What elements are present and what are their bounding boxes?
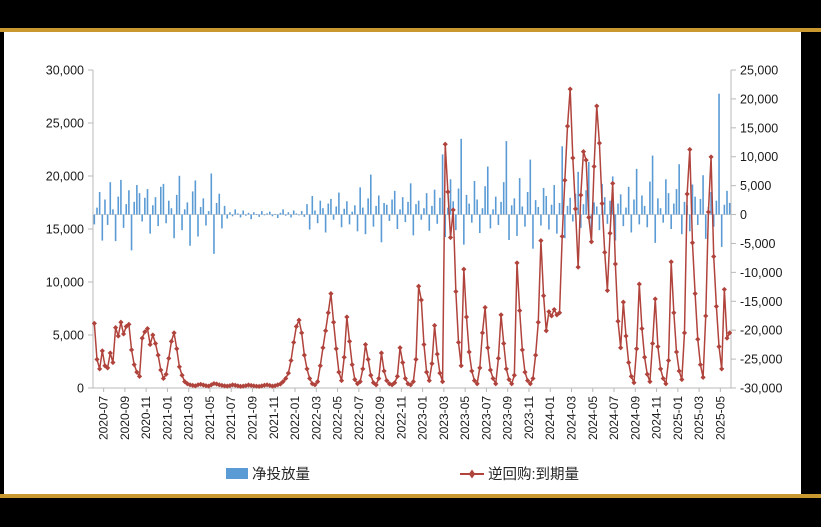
- line-marker: [360, 366, 365, 371]
- bar: [187, 202, 189, 214]
- line-marker: [708, 154, 713, 159]
- bar: [402, 197, 404, 214]
- line-marker: [629, 374, 634, 379]
- bar: [567, 206, 569, 215]
- line-marker: [645, 372, 650, 377]
- line-marker: [421, 342, 426, 347]
- legend-label-net-injection: 净投放量: [252, 463, 310, 484]
- bar: [346, 201, 348, 214]
- svg-text:5,000: 5,000: [53, 329, 84, 343]
- line-marker: [100, 348, 105, 353]
- bar: [498, 215, 500, 225]
- bar: [662, 215, 664, 223]
- line-marker: [323, 328, 328, 333]
- svg-text:2020-07: 2020-07: [97, 396, 111, 440]
- bar: [203, 198, 205, 214]
- bar: [343, 209, 345, 215]
- bar: [216, 203, 218, 215]
- bar: [585, 190, 587, 214]
- line-marker: [363, 342, 368, 347]
- bar: [431, 206, 433, 215]
- bar: [117, 197, 119, 215]
- line-marker: [650, 341, 655, 346]
- bar: [370, 175, 372, 215]
- bar: [577, 172, 579, 215]
- line-marker: [677, 368, 682, 373]
- bar: [428, 215, 430, 231]
- bar: [365, 215, 367, 235]
- chart-canvas: 05,00010,00015,00020,00025,00030,000-30,…: [4, 32, 801, 494]
- svg-text:10,000: 10,000: [740, 150, 778, 164]
- line-marker: [169, 339, 174, 344]
- bar: [181, 215, 183, 231]
- line-marker: [602, 250, 607, 255]
- line-marker: [485, 345, 490, 350]
- svg-text:-5,000: -5,000: [740, 237, 775, 251]
- bar: [168, 201, 170, 215]
- bar: [413, 215, 415, 236]
- line-marker: [432, 323, 437, 328]
- line-marker: [647, 379, 652, 384]
- svg-text:2023-07: 2023-07: [479, 396, 493, 440]
- svg-text:25,000: 25,000: [740, 64, 778, 78]
- line-marker: [97, 366, 102, 371]
- bar: [410, 183, 412, 214]
- bar: [399, 209, 401, 214]
- bar: [551, 205, 553, 215]
- bar: [391, 200, 393, 215]
- svg-text:2022-07: 2022-07: [352, 396, 366, 440]
- line-marker: [174, 346, 179, 351]
- line-marker: [336, 370, 341, 375]
- bar: [519, 178, 521, 214]
- line-marker: [685, 191, 690, 196]
- line-marker: [599, 201, 604, 206]
- bar: [120, 180, 122, 215]
- bar: [272, 215, 274, 217]
- line-marker: [661, 376, 666, 381]
- svg-text:2024-07: 2024-07: [607, 396, 621, 440]
- line-marker: [637, 282, 642, 287]
- bar: [436, 215, 438, 224]
- bar: [434, 190, 436, 215]
- bar: [293, 210, 295, 214]
- bar: [716, 201, 718, 215]
- bar: [476, 200, 478, 215]
- bar: [726, 191, 728, 215]
- bar: [176, 195, 178, 215]
- bar: [248, 213, 250, 215]
- bar: [463, 215, 465, 245]
- bar: [423, 208, 425, 214]
- bar: [702, 175, 704, 214]
- bar: [99, 192, 101, 215]
- bar: [107, 215, 109, 225]
- bar: [330, 199, 332, 215]
- svg-text:2021-05: 2021-05: [203, 396, 217, 440]
- line-marker: [565, 124, 570, 129]
- svg-text:2023-11: 2023-11: [522, 396, 536, 439]
- bar: [359, 187, 361, 214]
- bar: [362, 208, 364, 215]
- bar: [471, 215, 473, 223]
- svg-text:2023-03: 2023-03: [437, 396, 451, 440]
- line-marker: [581, 149, 586, 154]
- bar: [245, 215, 247, 216]
- legend-item-net-injection[interactable]: 净投放量: [226, 463, 310, 484]
- legend-bar-icon: [226, 468, 248, 479]
- bar: [250, 215, 252, 220]
- svg-text:2021-01: 2021-01: [160, 396, 174, 440]
- bar: [325, 215, 327, 233]
- line-marker: [623, 333, 628, 338]
- bar: [426, 193, 428, 214]
- line-marker: [368, 373, 373, 378]
- line-marker: [488, 367, 493, 372]
- bar: [218, 194, 220, 215]
- bar: [572, 215, 574, 222]
- bar: [527, 192, 529, 215]
- line-marker: [618, 345, 623, 350]
- line-marker: [538, 238, 543, 243]
- bar: [405, 215, 407, 223]
- line-marker: [113, 325, 118, 330]
- bar: [641, 195, 643, 214]
- bar: [306, 204, 308, 214]
- bar: [296, 213, 298, 214]
- bar: [694, 197, 696, 215]
- line-marker: [669, 259, 674, 264]
- bar: [155, 197, 157, 214]
- line-marker: [381, 368, 386, 373]
- line-marker: [132, 362, 137, 367]
- line-marker: [179, 373, 184, 378]
- svg-text:15,000: 15,000: [46, 223, 84, 237]
- line-marker: [483, 305, 488, 310]
- line-marker: [480, 330, 485, 335]
- svg-text:-20,000: -20,000: [740, 324, 782, 338]
- bar: [386, 205, 388, 215]
- line-marker: [376, 376, 381, 381]
- line-marker: [615, 319, 620, 324]
- bar: [269, 212, 271, 215]
- svg-text:5,000: 5,000: [740, 179, 771, 193]
- line-marker: [631, 380, 636, 385]
- legend-label-reverse-repo-maturity: 逆回购:到期量: [488, 463, 579, 484]
- bar: [351, 212, 353, 215]
- bar: [556, 215, 558, 234]
- bar: [221, 215, 223, 229]
- line-marker: [530, 376, 535, 381]
- line-marker: [296, 318, 301, 323]
- bar: [123, 215, 125, 228]
- line-marker: [469, 368, 474, 373]
- svg-text:-30,000: -30,000: [740, 382, 782, 396]
- line-marker: [520, 347, 525, 352]
- bar: [548, 215, 550, 230]
- line-marker: [443, 142, 448, 147]
- line-marker: [568, 86, 573, 91]
- svg-text:2023-01: 2023-01: [416, 396, 430, 440]
- bar: [724, 205, 726, 215]
- bar: [660, 208, 662, 214]
- svg-text:0: 0: [77, 382, 84, 396]
- line-marker: [342, 355, 347, 360]
- bar: [407, 202, 409, 215]
- bar: [96, 208, 98, 215]
- line-marker: [129, 347, 134, 352]
- line-marker: [666, 358, 671, 363]
- line-marker: [490, 376, 495, 381]
- bar: [301, 211, 303, 214]
- bar: [258, 215, 260, 217]
- line-marker: [719, 366, 724, 371]
- bar: [636, 169, 638, 215]
- line-marker: [320, 345, 325, 350]
- svg-text:-10,000: -10,000: [740, 266, 782, 280]
- svg-text:2020-09: 2020-09: [118, 396, 132, 440]
- line-marker: [299, 330, 304, 335]
- line-marker: [456, 340, 461, 345]
- line-marker: [552, 307, 557, 312]
- bar: [492, 209, 494, 214]
- bar: [506, 141, 508, 214]
- line-marker: [578, 192, 583, 197]
- bar: [226, 215, 228, 219]
- bar: [397, 215, 399, 229]
- bar: [208, 211, 210, 214]
- line-marker: [153, 341, 158, 346]
- bar: [540, 215, 542, 226]
- bar: [593, 202, 595, 214]
- bar: [508, 215, 510, 240]
- bar: [657, 198, 659, 214]
- line-marker: [318, 363, 323, 368]
- bar: [628, 187, 630, 215]
- bar: [381, 215, 383, 243]
- bar: [102, 215, 104, 241]
- line-marker: [379, 350, 384, 355]
- line-marker: [698, 362, 703, 367]
- line-marker: [610, 181, 615, 186]
- bar: [375, 206, 377, 215]
- line-marker: [586, 215, 591, 220]
- line-marker: [158, 367, 163, 372]
- line-marker: [512, 373, 517, 378]
- svg-text:2022-05: 2022-05: [331, 396, 345, 440]
- bar: [266, 213, 268, 214]
- line-marker: [416, 284, 421, 289]
- svg-text:2021-09: 2021-09: [246, 396, 260, 440]
- bar: [553, 185, 555, 214]
- line-marker: [448, 235, 453, 240]
- svg-text:2021-11: 2021-11: [267, 396, 281, 439]
- bar: [638, 215, 640, 225]
- bar: [224, 206, 226, 215]
- svg-text:2021-07: 2021-07: [224, 396, 238, 440]
- line-marker: [695, 337, 700, 342]
- bar: [285, 215, 287, 216]
- svg-text:2024-01: 2024-01: [543, 396, 557, 440]
- bar: [274, 214, 276, 215]
- bar: [670, 215, 672, 229]
- bar: [479, 215, 481, 234]
- svg-text:2024-09: 2024-09: [628, 396, 642, 440]
- bar: [665, 179, 667, 214]
- line-marker: [429, 361, 434, 366]
- chart-plot-area: 05,00010,00015,00020,00025,00030,000-30,…: [4, 32, 801, 494]
- bar: [450, 179, 452, 214]
- bar: [564, 215, 566, 239]
- line-marker: [576, 265, 581, 270]
- bar: [559, 203, 561, 215]
- line-marker: [671, 310, 676, 315]
- line-marker: [440, 379, 445, 384]
- line-marker: [682, 330, 687, 335]
- bar: [261, 211, 263, 214]
- line-marker: [403, 376, 408, 381]
- bar: [205, 215, 207, 226]
- line-marker: [541, 293, 546, 298]
- svg-text:2022-03: 2022-03: [309, 396, 323, 440]
- line-marker: [288, 358, 293, 363]
- bar: [242, 210, 244, 214]
- line-marker: [605, 288, 610, 293]
- bar: [529, 160, 531, 215]
- bar: [522, 206, 524, 214]
- bar: [232, 215, 234, 217]
- bar: [700, 199, 702, 215]
- line-marker: [464, 314, 469, 319]
- svg-text:2022-01: 2022-01: [288, 396, 302, 440]
- bar: [569, 198, 571, 215]
- line-marker: [291, 340, 296, 345]
- line-marker: [536, 320, 541, 325]
- bar: [516, 215, 518, 236]
- bar: [394, 191, 396, 215]
- bar: [157, 215, 159, 227]
- line-marker: [496, 356, 501, 361]
- line-marker: [517, 308, 522, 313]
- svg-text:10,000: 10,000: [46, 276, 84, 290]
- bar: [503, 182, 505, 214]
- line-marker: [584, 158, 589, 163]
- line-marker: [714, 304, 719, 309]
- line-marker: [504, 366, 509, 371]
- line-marker: [544, 328, 549, 333]
- bar: [264, 215, 266, 216]
- line-marker: [435, 351, 440, 356]
- bar: [389, 215, 391, 221]
- line-marker: [493, 381, 498, 386]
- line-marker: [722, 287, 727, 292]
- bar: [309, 215, 311, 230]
- bar: [147, 189, 149, 214]
- bar: [256, 214, 258, 215]
- bar: [697, 215, 699, 225]
- bar: [617, 204, 619, 215]
- bar: [131, 215, 133, 251]
- line-marker: [663, 381, 668, 386]
- line-marker: [724, 336, 729, 341]
- svg-text:2023-05: 2023-05: [458, 396, 472, 440]
- line-marker: [177, 364, 182, 369]
- bar: [327, 204, 329, 215]
- line-marker: [366, 357, 371, 362]
- svg-text:2023-09: 2023-09: [501, 396, 515, 440]
- bar: [644, 206, 646, 215]
- bar: [197, 215, 199, 237]
- line-marker: [156, 353, 161, 358]
- bar: [349, 215, 351, 225]
- line-marker: [334, 346, 339, 351]
- bar: [173, 215, 175, 239]
- bar: [535, 200, 537, 214]
- line-marker: [108, 350, 113, 355]
- bar: [152, 205, 154, 214]
- bar: [676, 189, 678, 214]
- svg-text:2022-09: 2022-09: [373, 396, 387, 440]
- svg-text:20,000: 20,000: [740, 92, 778, 106]
- bar: [112, 209, 114, 214]
- bar: [652, 156, 654, 215]
- line-marker: [522, 370, 527, 375]
- bar: [319, 201, 321, 215]
- svg-text:15,000: 15,000: [740, 121, 778, 135]
- bar: [304, 215, 306, 217]
- line-marker: [679, 377, 684, 382]
- bar: [237, 213, 239, 214]
- line-marker: [339, 378, 344, 383]
- line-marker: [533, 353, 538, 358]
- chart-frame: 05,00010,00015,00020,00025,00030,000-30,…: [0, 0, 821, 527]
- line-marker: [294, 324, 299, 329]
- line-marker: [118, 320, 123, 325]
- line-marker: [121, 331, 126, 336]
- line-marker: [467, 349, 472, 354]
- line-marker: [171, 330, 176, 335]
- line-marker: [597, 141, 602, 146]
- line-marker: [286, 371, 291, 376]
- bar: [673, 204, 675, 215]
- line-marker: [573, 206, 578, 211]
- bar: [649, 182, 651, 215]
- bar: [195, 180, 197, 214]
- legend-item-reverse-repo-maturity[interactable]: 逆回购:到期量: [460, 463, 579, 484]
- bar: [631, 215, 633, 233]
- svg-text:-15,000: -15,000: [740, 295, 782, 309]
- line-marker: [110, 360, 115, 365]
- line-marker: [307, 376, 312, 381]
- legend-line-icon: [460, 467, 484, 479]
- line-marker: [453, 289, 458, 294]
- bar: [94, 215, 96, 225]
- svg-text:2025-03: 2025-03: [692, 396, 706, 440]
- chart-legend: 净投放量 逆回购:到期量: [4, 458, 801, 488]
- line-marker: [570, 155, 575, 160]
- bar: [280, 213, 282, 215]
- bar: [455, 215, 457, 231]
- line-marker: [477, 365, 482, 370]
- line-marker: [613, 261, 618, 266]
- line-marker: [328, 291, 333, 296]
- svg-text:2022-11: 2022-11: [394, 396, 408, 439]
- bar: [253, 212, 255, 214]
- bar: [596, 206, 598, 214]
- bar: [298, 215, 300, 216]
- bar: [689, 215, 691, 232]
- line-marker: [150, 332, 155, 337]
